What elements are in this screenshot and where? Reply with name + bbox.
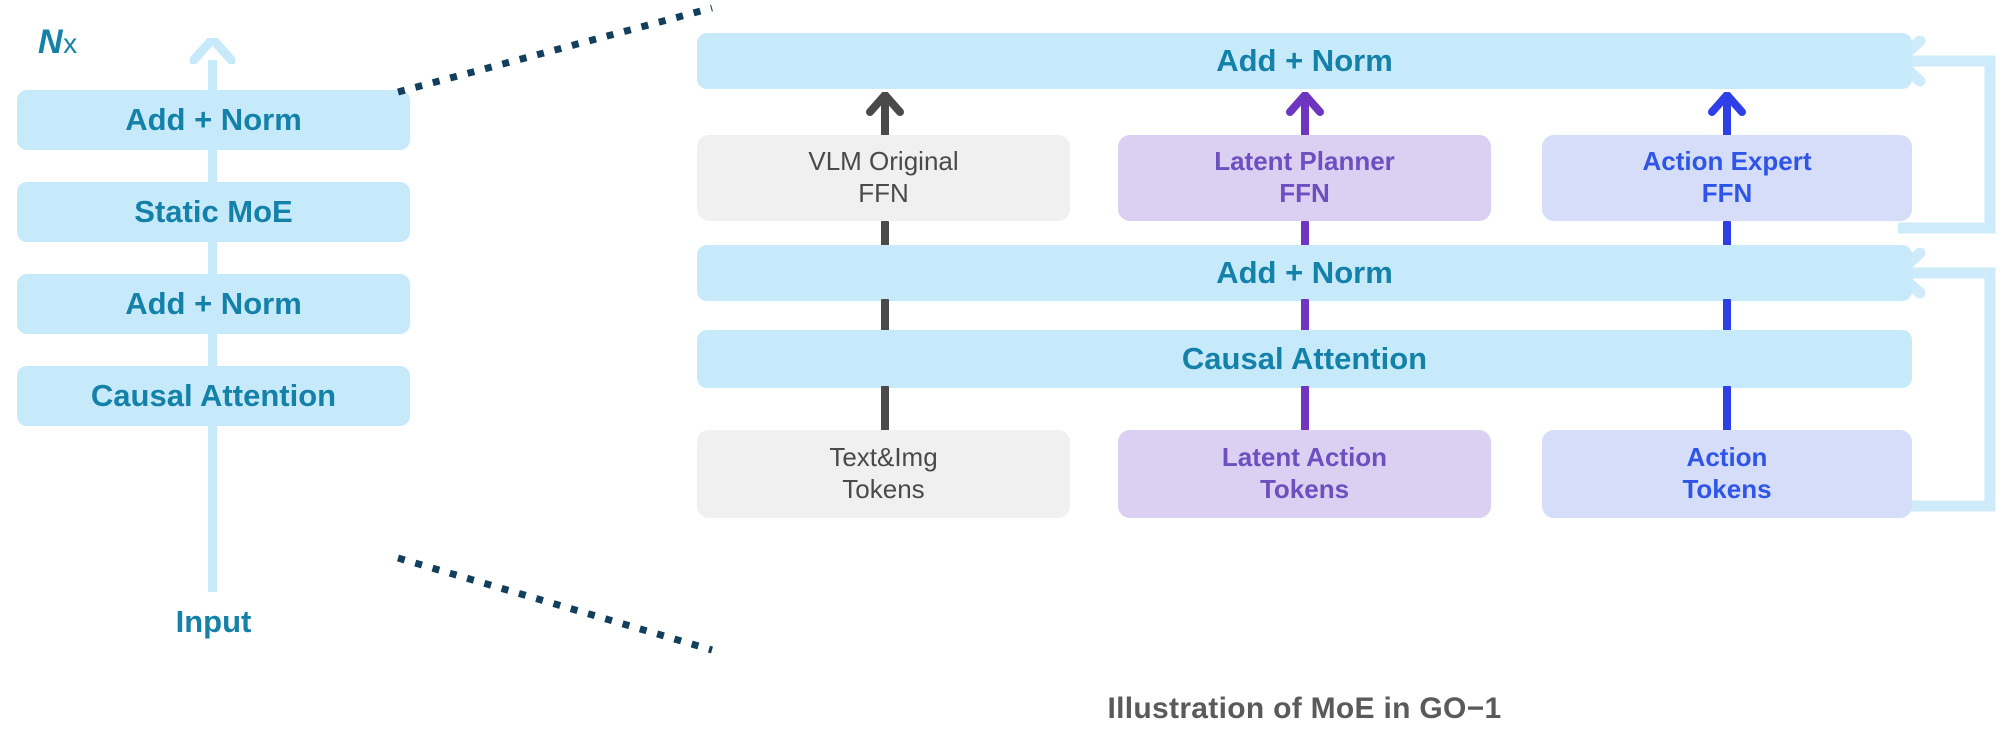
token-box-action-text: Action Tokens xyxy=(1682,442,1771,505)
token-latent-line1: Latent Action xyxy=(1222,442,1387,472)
figure-caption: Illustration of MoE in GO−1 xyxy=(697,692,1912,726)
token-box-action[interactable]: Action Tokens xyxy=(1542,430,1912,518)
ffn-latent-line1: Latent Planner xyxy=(1214,146,1395,176)
token-latent-line2: Tokens xyxy=(1260,474,1349,504)
token-box-latent-action-text: Latent Action Tokens xyxy=(1222,442,1387,505)
token-action-line2: Tokens xyxy=(1682,474,1771,504)
token-box-text-img-text: Text&Img Tokens xyxy=(829,442,937,505)
token-action-line1: Action xyxy=(1687,442,1768,472)
connector-action-tokens-to-attention xyxy=(1723,386,1731,434)
ffn-box-action-expert-text: Action Expert FFN xyxy=(1642,146,1811,209)
ffn-box-latent-planner-text: Latent Planner FFN xyxy=(1214,146,1395,209)
ffn-action-line1: Action Expert xyxy=(1642,146,1811,176)
token-textimg-line2: Tokens xyxy=(842,474,924,504)
arrow-up-action-expert-icon xyxy=(1708,92,1746,140)
ffn-action-line2: FFN xyxy=(1702,178,1753,208)
token-box-text-img[interactable]: Text&Img Tokens xyxy=(697,430,1070,518)
ffn-box-vlm-original-text: VLM Original FFN xyxy=(808,146,958,209)
arrow-up-vlm-icon xyxy=(866,92,904,140)
ffn-vlm-line1: VLM Original xyxy=(808,146,958,176)
ffn-vlm-line2: FFN xyxy=(858,178,909,208)
right-causal-attention[interactable]: Causal Attention xyxy=(697,330,1912,388)
connector-latent-tokens-to-attention xyxy=(1301,386,1309,434)
ffn-box-action-expert[interactable]: Action Expert FFN xyxy=(1542,135,1912,221)
ffn-box-vlm-original[interactable]: VLM Original FFN xyxy=(697,135,1070,221)
right-add-norm-top[interactable]: Add + Norm xyxy=(697,33,1912,89)
token-box-latent-action[interactable]: Latent Action Tokens xyxy=(1118,430,1491,518)
right-moe-detail-panel: Add + Norm VLM Original FFN Latent Plann… xyxy=(0,0,2014,748)
token-textimg-line1: Text&Img xyxy=(829,442,937,472)
ffn-box-latent-planner[interactable]: Latent Planner FFN xyxy=(1118,135,1491,221)
ffn-latent-line2: FFN xyxy=(1279,178,1330,208)
connector-text-img-tokens-to-attention xyxy=(881,386,889,434)
diagram-canvas: Nx Add + Norm Static MoE Add + Norm Caus… xyxy=(0,0,2014,748)
right-add-norm-mid[interactable]: Add + Norm xyxy=(697,245,1912,301)
arrow-up-latent-planner-icon xyxy=(1286,92,1324,140)
